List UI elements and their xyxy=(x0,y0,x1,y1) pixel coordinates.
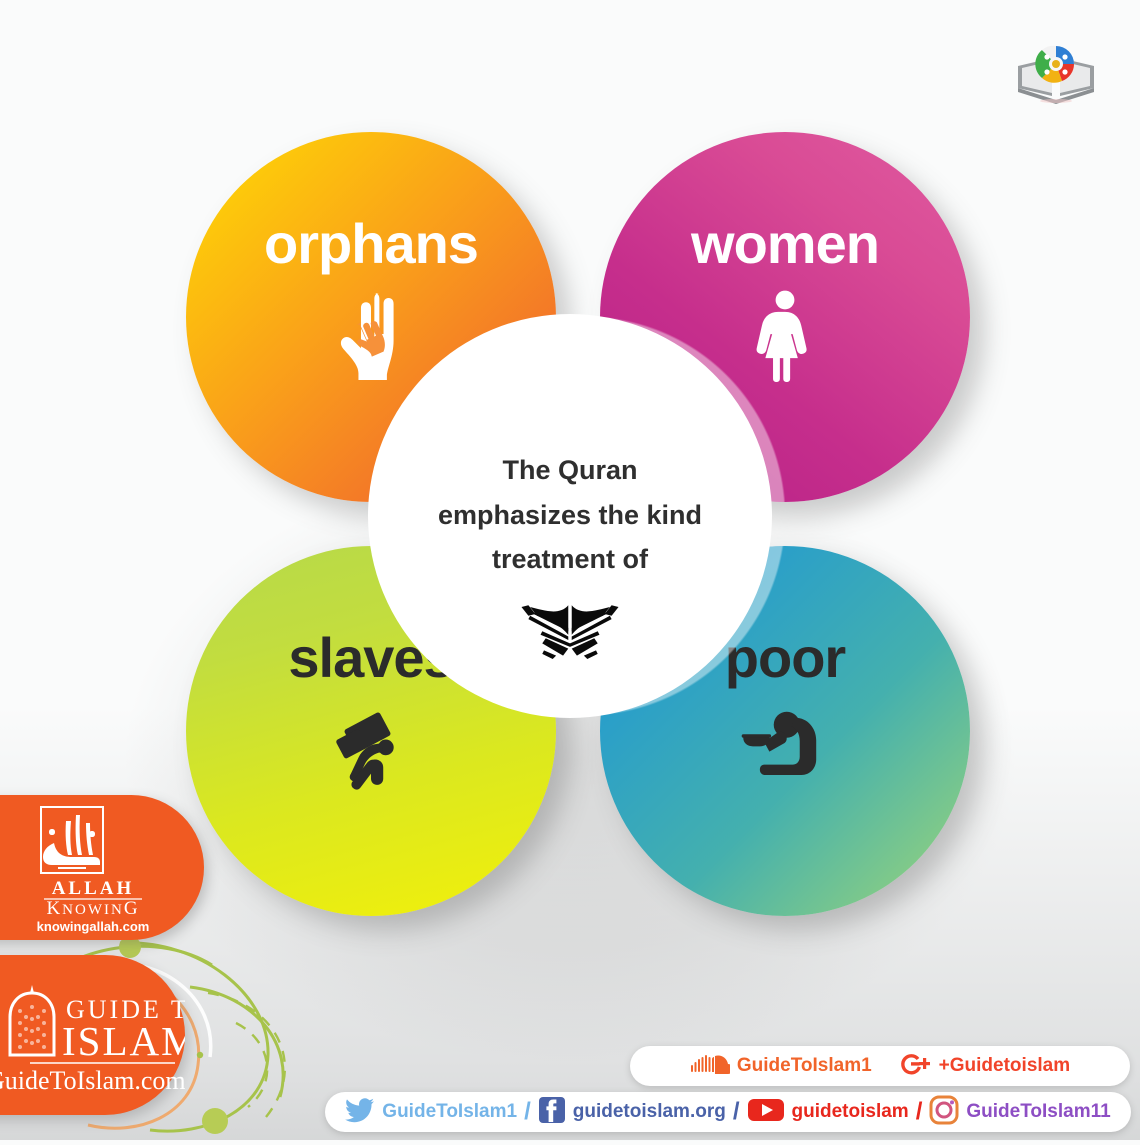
social-separator-2: / xyxy=(733,1098,740,1126)
social-link-facebook[interactable]: guidetoislam.org xyxy=(538,1096,726,1129)
svg-text:KNOWING: KNOWING xyxy=(46,898,139,919)
person-carrying-load-icon xyxy=(186,702,556,803)
instagram-icon xyxy=(929,1095,959,1130)
guide-to-islam-logo-panel[interactable]: GUIDE TO ISLAM GuideToIslam.com xyxy=(0,955,185,1115)
center-heading-line-2: emphasizes the kind xyxy=(388,493,752,538)
svg-text:GuideToIslam.com: GuideToIslam.com xyxy=(0,1066,185,1095)
social-handle-twitter: GuideToIslam1 xyxy=(382,1101,517,1123)
social-link-youtube[interactable]: guidetoislam xyxy=(747,1097,909,1128)
social-link-soundcloud[interactable]: GuideToIslam1 xyxy=(690,1053,872,1080)
social-bar-top: GuideToIslam1 +Guidetoislam xyxy=(630,1046,1130,1086)
soundcloud-icon xyxy=(690,1053,730,1080)
twitter-icon xyxy=(345,1097,375,1128)
social-link-instagram[interactable]: GuideToIslam11 xyxy=(929,1095,1110,1130)
social-separator-3: / xyxy=(916,1098,923,1126)
center-heading-line-3: treatment of xyxy=(388,537,752,582)
social-handle-soundcloud: GuideToIslam1 xyxy=(737,1055,872,1077)
social-handle-youtube: guidetoislam xyxy=(792,1101,909,1123)
social-link-google-plus[interactable]: +Guidetoislam xyxy=(898,1051,1070,1082)
open-quran-book-icon xyxy=(388,586,752,666)
kneeling-begging-person-icon xyxy=(600,702,970,794)
center-heading: The Quran emphasizes the kind treatment … xyxy=(388,448,752,582)
center-heading-line-1: The Quran xyxy=(388,448,752,493)
youtube-icon xyxy=(747,1097,785,1128)
social-handle-instagram: GuideToIslam11 xyxy=(966,1101,1110,1123)
knowing-allah-logo-panel[interactable]: ALLAH KNOWING knowingallah.com xyxy=(0,795,204,940)
social-bar-bottom: GuideToIslam1 / guidetoislam.org / guide… xyxy=(325,1092,1131,1132)
social-handle-google-plus: +Guidetoislam xyxy=(939,1055,1070,1077)
google-plus-icon xyxy=(898,1051,932,1082)
social-link-twitter[interactable]: GuideToIslam1 xyxy=(345,1097,517,1128)
bubble-women-label: women xyxy=(600,216,970,272)
svg-text:ALLAH: ALLAH xyxy=(52,878,135,899)
social-separator-1: / xyxy=(524,1098,531,1126)
facebook-icon xyxy=(538,1096,566,1129)
infographic-canvas: orphans women xyxy=(0,0,1140,1140)
svg-text:knowingallah.com: knowingallah.com xyxy=(37,919,150,934)
mosque-arch-icon xyxy=(10,985,54,1055)
bubble-orphans-label: orphans xyxy=(186,216,556,272)
svg-text:ISLAM: ISLAM xyxy=(62,1018,185,1064)
social-handle-facebook: guidetoislam.org xyxy=(573,1101,726,1123)
